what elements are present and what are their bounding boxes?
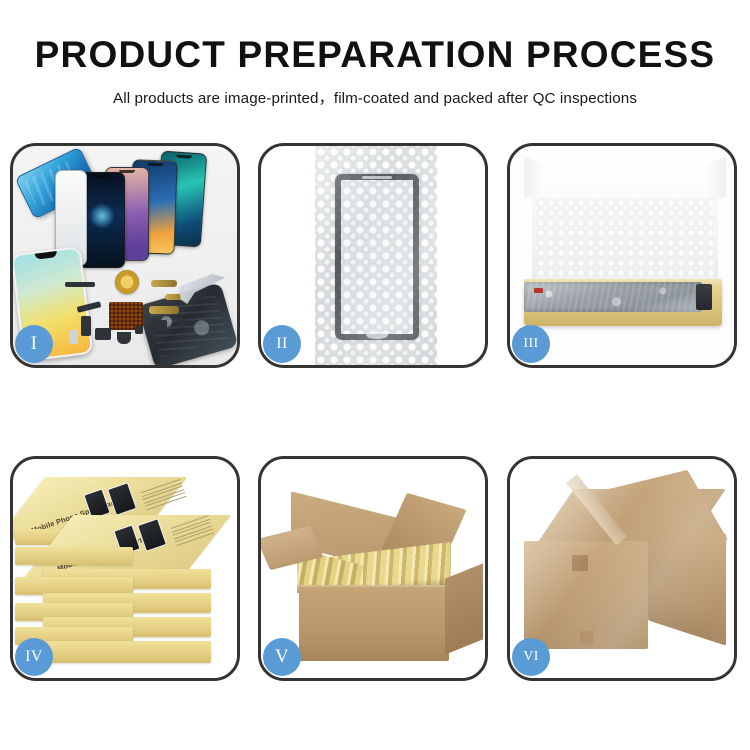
page-subtitle: All products are image-printed，film-coat…: [0, 75, 750, 108]
step-badge-4: IV: [15, 638, 53, 676]
process-step-panel-5: V: [258, 456, 488, 681]
earpiece-part: [65, 282, 95, 287]
step-badge-3: III: [512, 325, 550, 363]
kraft-box-9: [43, 641, 211, 663]
carton-flap-tab-1: [572, 555, 588, 571]
product-preparation-page: PRODUCT PREPARATION PROCESS All products…: [0, 0, 750, 750]
spare-parts-group-image: [65, 268, 221, 360]
process-step-panel-4: Mobile Phone Spare Parts Mobile Phone Sp…: [10, 456, 240, 681]
step-badge-1: I: [15, 325, 53, 363]
process-step-panel-2: II: [258, 143, 488, 368]
kraft-box-stack-image: Mobile Phone Spare Parts Mobile Phone Sp…: [15, 477, 237, 669]
carton-right-face: [445, 563, 483, 654]
page-title: PRODUCT PREPARATION PROCESS: [0, 0, 750, 75]
packed-screen-image: [524, 282, 702, 312]
foam-padding-image: [536, 198, 714, 282]
screw-part-1: [177, 318, 186, 327]
step-badge-6: VI: [512, 638, 550, 676]
flex-cable-part-4: [149, 306, 179, 314]
bubble-wrap-image: [315, 146, 437, 365]
red-label-mark: [534, 288, 543, 293]
bracket-part-1: [95, 328, 111, 340]
bracket-part-2: [117, 332, 131, 344]
process-step-panel-6: VI: [507, 456, 737, 681]
step-badge-5: V: [263, 638, 301, 676]
sim-tray-part: [69, 330, 78, 344]
kraft-box-2: [15, 547, 133, 565]
screw-part-2: [135, 326, 143, 334]
wrapped-screen-image: [335, 174, 419, 340]
open-carton-body-image: [299, 587, 449, 661]
flex-cable-part-3: [77, 301, 102, 313]
process-steps-grid: I II III: [10, 143, 745, 681]
phone-notch: [94, 175, 110, 178]
carton-flap-tab-2: [580, 631, 594, 645]
speaker-coil-part: [115, 270, 139, 294]
phone-notch: [147, 163, 163, 167]
screen-connector-tip: [696, 284, 712, 310]
page-header: PRODUCT PREPARATION PROCESS All products…: [0, 0, 750, 108]
phone-notch: [176, 155, 192, 159]
tweezers-tool-image: [179, 274, 225, 304]
connector-part-1: [81, 316, 91, 336]
process-step-panel-3: III: [507, 143, 737, 368]
flex-cable-part-1: [151, 280, 177, 287]
ic-chip-part: [151, 320, 167, 330]
step-badge-2: II: [263, 325, 301, 363]
process-step-panel-1: I: [10, 143, 240, 368]
